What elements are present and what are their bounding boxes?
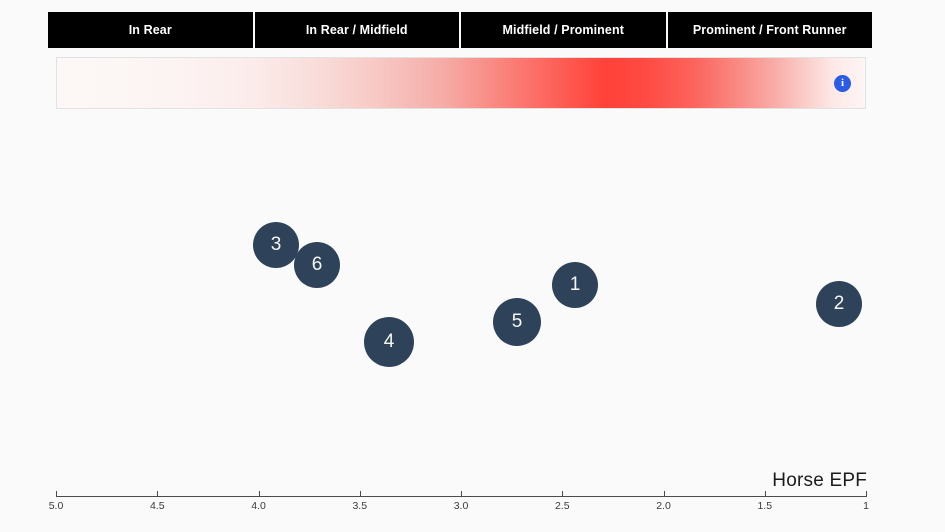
epf-chart-panel: In Rear In Rear / Midfield Midfield / Pr… — [0, 0, 945, 532]
x-axis-tick — [461, 491, 462, 497]
bubble-label: 6 — [312, 254, 323, 276]
gradient-fill — [57, 58, 865, 108]
x-axis-tick-label: 4.0 — [251, 500, 266, 512]
x-axis-tick-label: 3.5 — [352, 500, 367, 512]
tab-label: Prominent / Front Runner — [693, 23, 847, 37]
x-axis-tick-label: 4.5 — [150, 500, 165, 512]
x-axis-tick-label: 1.5 — [757, 500, 772, 512]
pace-gradient-bar: i — [56, 57, 866, 109]
x-axis-tick-label: 2.0 — [656, 500, 671, 512]
info-icon[interactable]: i — [834, 75, 851, 92]
tab-in-rear[interactable]: In Rear — [48, 12, 253, 48]
tab-prominent-front-runner[interactable]: Prominent / Front Runner — [668, 12, 873, 48]
bubble-label: 1 — [570, 274, 581, 296]
data-bubble-1[interactable]: 1 — [552, 262, 598, 308]
x-axis-tick-label: 3.0 — [454, 500, 469, 512]
data-bubble-6[interactable]: 6 — [294, 242, 340, 288]
x-axis-tick — [765, 491, 766, 497]
bubble-label: 4 — [384, 331, 395, 353]
tab-midfield-prominent[interactable]: Midfield / Prominent — [461, 12, 666, 48]
tab-label: In Rear / Midfield — [306, 23, 408, 37]
x-axis-tick-label: 1 — [863, 500, 869, 512]
x-axis-tick — [360, 491, 361, 497]
x-axis-tick — [259, 491, 260, 497]
data-bubble-4[interactable]: 4 — [364, 317, 414, 367]
data-bubble-3[interactable]: 3 — [253, 222, 299, 268]
tab-in-rear-midfield[interactable]: In Rear / Midfield — [255, 12, 460, 48]
data-bubble-2[interactable]: 2 — [816, 281, 862, 327]
x-axis-tick-label: 5.0 — [49, 500, 64, 512]
data-bubble-5[interactable]: 5 — [493, 298, 541, 346]
bubble-label: 2 — [834, 293, 845, 315]
tab-label: Midfield / Prominent — [503, 23, 624, 37]
tab-label: In Rear — [129, 23, 172, 37]
x-axis-tick — [664, 491, 665, 497]
x-axis-tick — [866, 491, 867, 497]
x-axis-title: Horse EPF — [772, 470, 867, 492]
run-style-tab-strip: In Rear In Rear / Midfield Midfield / Pr… — [48, 12, 872, 48]
x-axis-tick — [56, 491, 57, 497]
x-axis-tick — [562, 491, 563, 497]
bubble-label: 5 — [512, 311, 523, 333]
bubble-label: 3 — [271, 234, 282, 256]
x-axis-tick-label: 2.5 — [555, 500, 570, 512]
x-axis-tick — [157, 491, 158, 497]
info-icon-glyph: i — [841, 78, 844, 89]
